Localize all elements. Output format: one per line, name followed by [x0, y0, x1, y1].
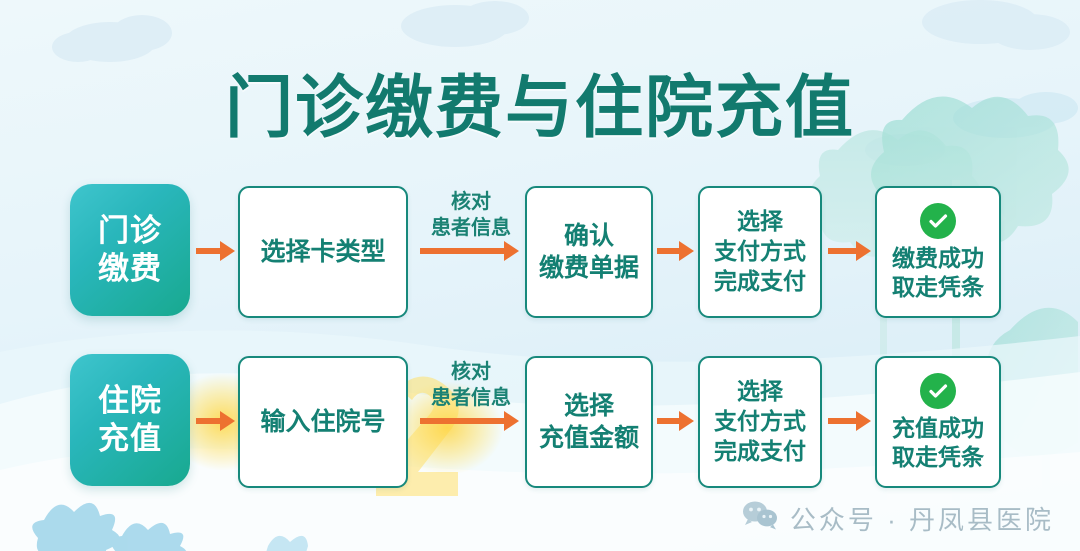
arrow-label-line-2: 患者信息: [419, 216, 523, 242]
step-card-input-admission-number[interactable]: 输入住院号: [238, 356, 408, 488]
step-card-choose-payment-method[interactable]: 选择 支付方式 完成支付: [698, 186, 822, 318]
arrow-label-line-1: 核对: [419, 190, 523, 216]
wechat-icon: [742, 500, 778, 537]
card-line-1: 选择: [737, 207, 783, 237]
badge-line-2: 缴费: [98, 250, 162, 288]
card-line-2: 支付方式: [714, 407, 806, 437]
arrow-step2-to-step3: [657, 240, 695, 262]
footer-text: 公众号 · 丹凤县医院: [790, 500, 1054, 537]
arrow-label-line-1: 核对: [419, 360, 523, 386]
badge-line-2: 充值: [98, 420, 162, 458]
badge-line-1: 住院: [98, 382, 162, 420]
card-line-2: 充值金额: [539, 422, 639, 455]
step-card-recharge-success[interactable]: 充值成功 取走凭条: [875, 356, 1001, 488]
check-circle-icon: [920, 203, 956, 239]
card-line-2: 取走凭条: [892, 443, 984, 471]
card-line-1: 充值成功: [892, 414, 984, 442]
arrow-label-line-2: 患者信息: [419, 386, 523, 412]
step-card-choose-payment-method[interactable]: 选择 支付方式 完成支付: [698, 356, 822, 488]
card-line-3: 完成支付: [714, 267, 806, 297]
card-line-1: 选择卡类型: [260, 236, 385, 269]
card-line-2: 取走凭条: [892, 273, 984, 301]
arrow-step1-to-step2: [420, 240, 520, 262]
card-line-1: 选择: [737, 377, 783, 407]
arrow-badge-to-step1: [196, 410, 236, 432]
arrow-label-verify-patient-info-1: 核对 患者信息: [419, 190, 523, 241]
card-line-1: 输入住院号: [260, 406, 385, 439]
page-title: 门诊缴费与住院充值: [0, 52, 1080, 151]
card-line-1: 选择: [564, 390, 614, 423]
arrow-step1-to-step2: [420, 410, 520, 432]
arrow-step2-to-step3: [657, 410, 695, 432]
card-line-3: 完成支付: [714, 437, 806, 467]
arrow-step3-to-step4: [828, 410, 872, 432]
card-line-1: 缴费成功: [892, 244, 984, 272]
poster-canvas: 门诊缴费与住院充值 门诊 缴费 选择卡类型 核对 患者信息 确认 缴费单据: [0, 0, 1080, 551]
footer-attribution: 公众号 · 丹凤县医院: [0, 500, 1080, 537]
card-line-2: 支付方式: [714, 237, 806, 267]
flow-row-inpatient: 住院 充值 输入住院号 核对 患者信息 选择 充值金额 选择 支付方式 完成支付: [0, 352, 1080, 492]
step-card-select-card-type[interactable]: 选择卡类型: [238, 186, 408, 318]
badge-line-1: 门诊: [98, 212, 162, 250]
step-card-confirm-payment-bill[interactable]: 确认 缴费单据: [525, 186, 653, 318]
arrow-badge-to-step1: [196, 240, 236, 262]
flow-badge-outpatient[interactable]: 门诊 缴费: [70, 184, 190, 316]
step-card-payment-success[interactable]: 缴费成功 取走凭条: [875, 186, 1001, 318]
arrow-step3-to-step4: [828, 240, 872, 262]
card-line-2: 缴费单据: [539, 252, 639, 285]
flow-badge-inpatient[interactable]: 住院 充值: [70, 354, 190, 486]
card-line-1: 确认: [564, 220, 614, 253]
arrow-label-verify-patient-info-2: 核对 患者信息: [419, 360, 523, 411]
step-card-select-recharge-amount[interactable]: 选择 充值金额: [525, 356, 653, 488]
check-circle-icon: [920, 373, 956, 409]
flow-row-outpatient: 门诊 缴费 选择卡类型 核对 患者信息 确认 缴费单据 选择 支付方式 完成支付: [0, 182, 1080, 322]
